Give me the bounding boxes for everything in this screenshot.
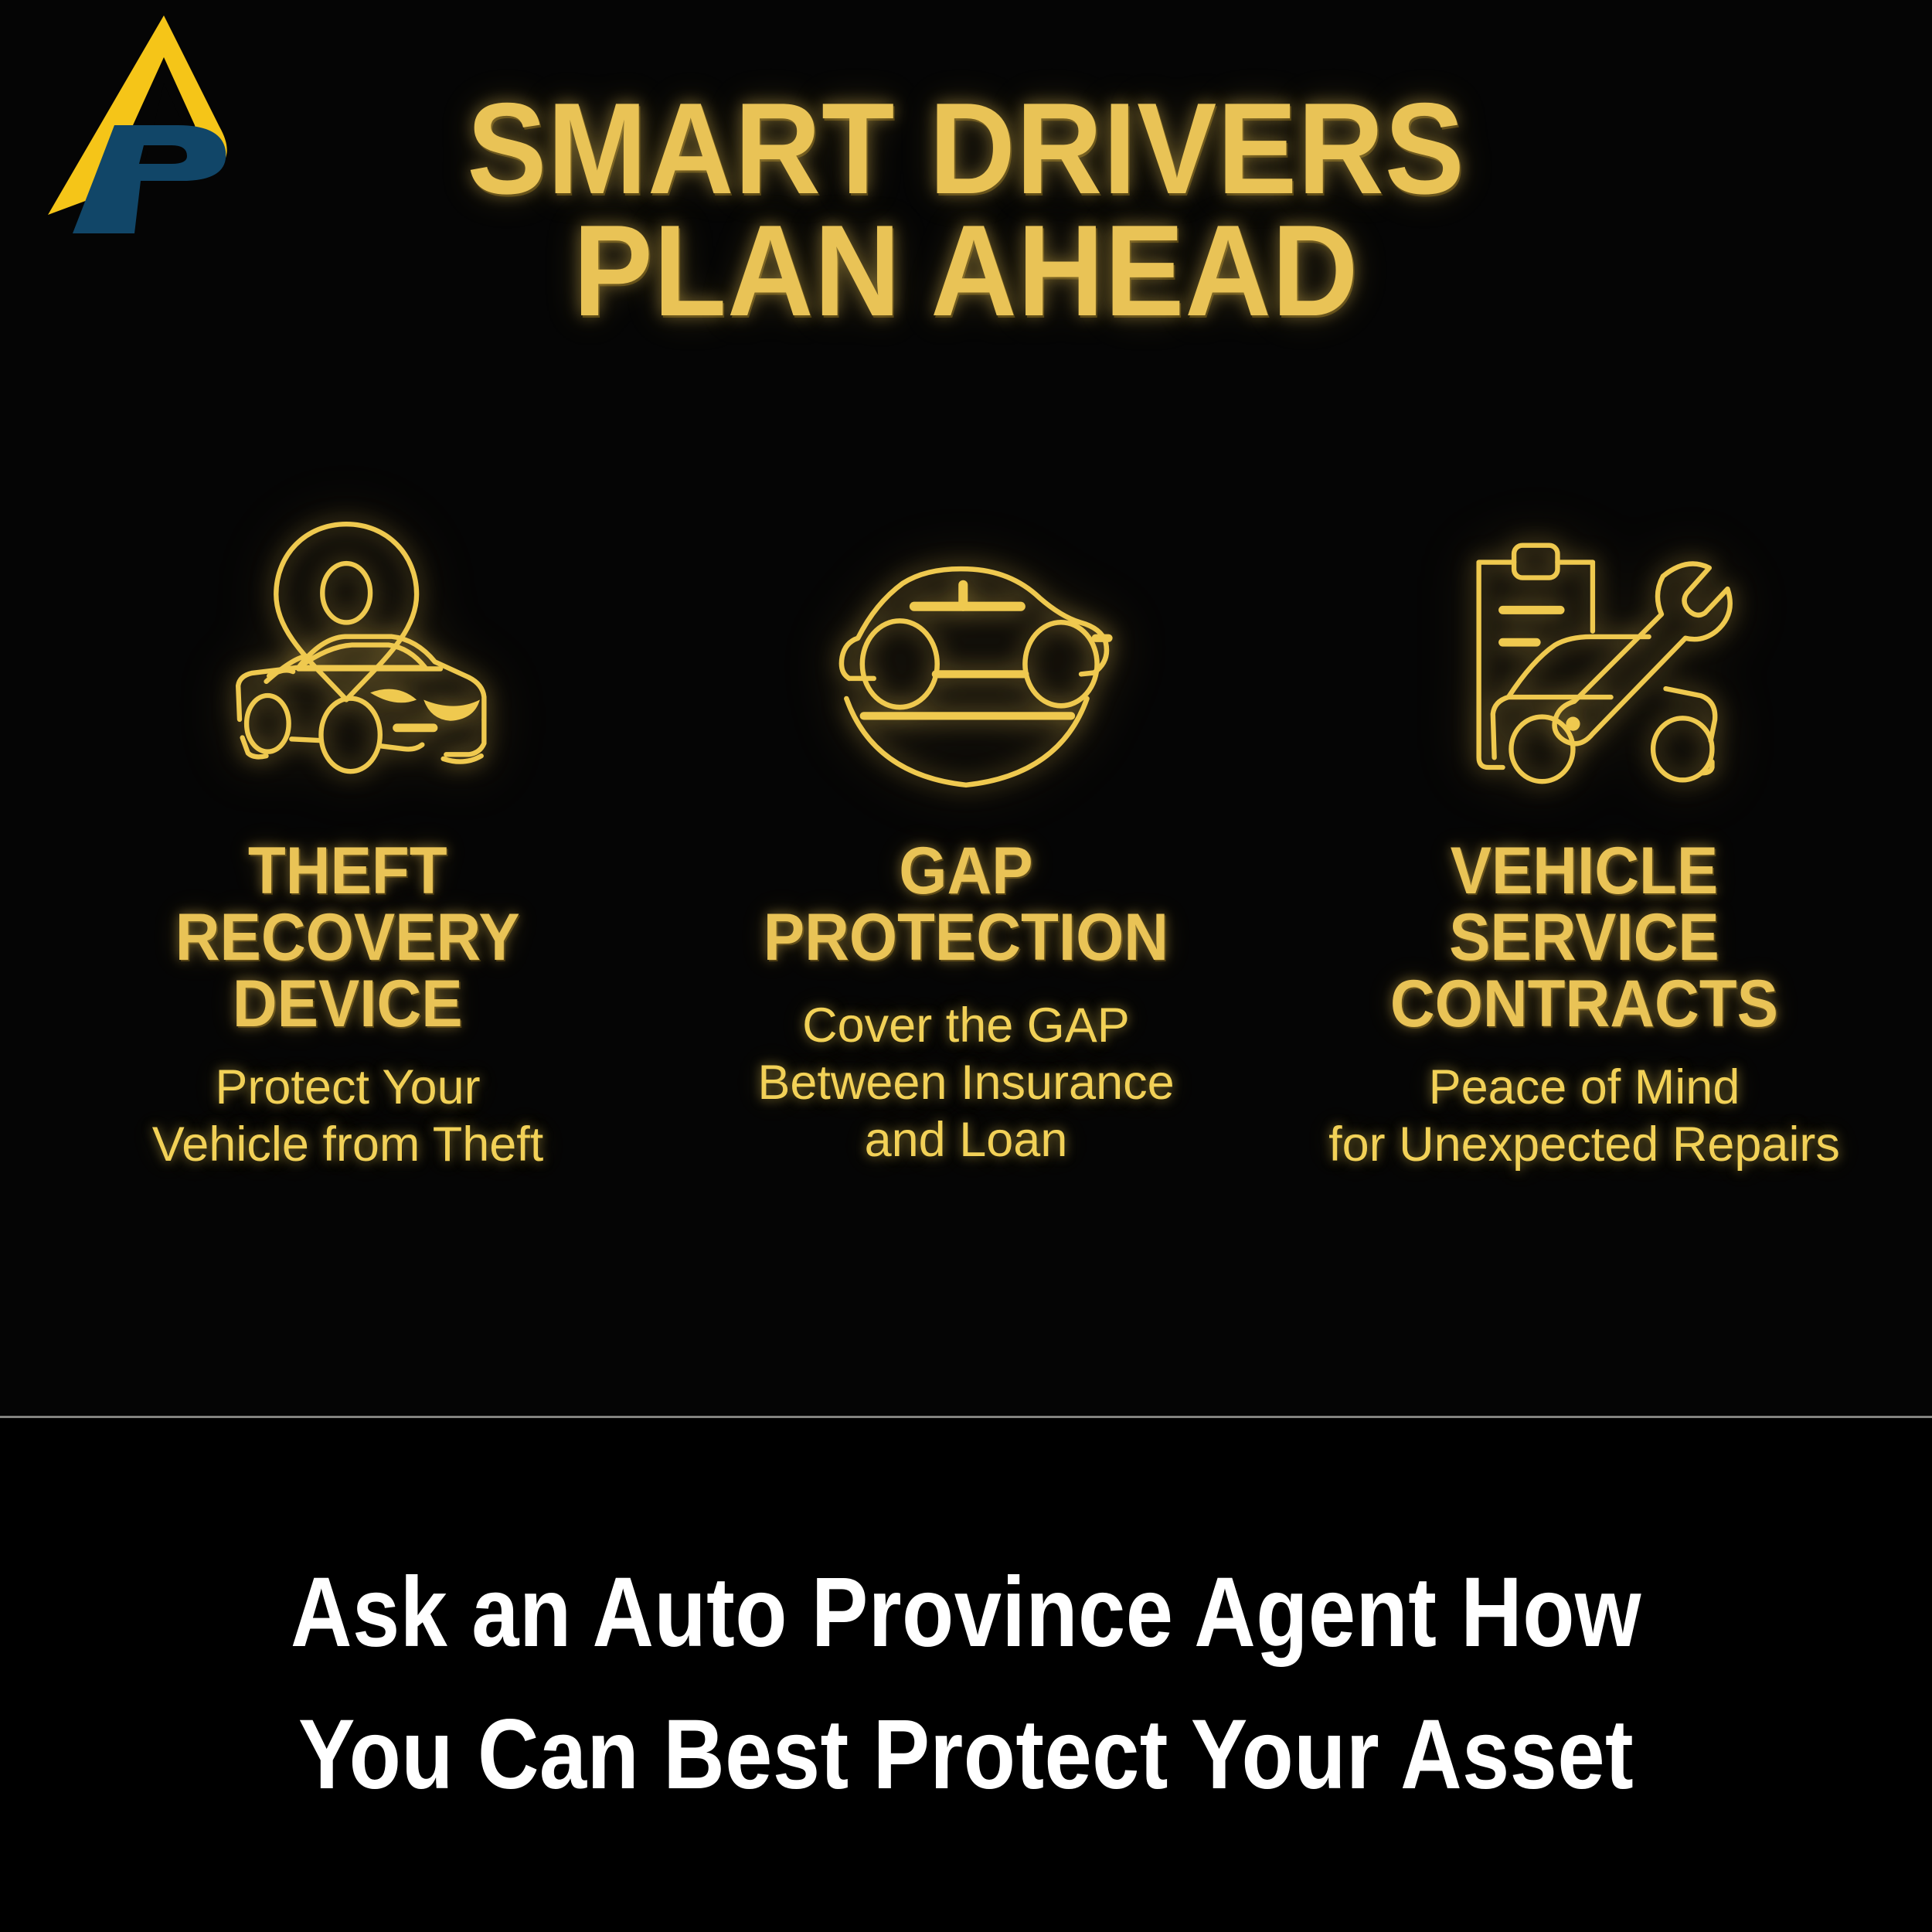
feature-description-gap-protection: Cover the GAP Between Insurance and Loan — [757, 997, 1174, 1168]
headline-line-2: PLAN AHEAD — [312, 213, 1621, 328]
poster-canvas: SMART DRIVERS PLAN AHEAD — [0, 0, 1932, 1932]
car-in-shield-icon — [808, 522, 1124, 811]
cta-panel: Ask an Auto Province Agent How You Can B… — [0, 1418, 1932, 1932]
feature-title-gap-protection: GAP PROTECTION — [764, 838, 1168, 971]
feature-title-theft-recovery-device: THEFT RECOVERY DEVICE — [175, 838, 520, 1037]
top-panel: SMART DRIVERS PLAN AHEAD — [0, 0, 1932, 1416]
page-title: SMART DRIVERS PLAN AHEAD — [255, 91, 1677, 328]
car-with-location-pin-icon — [193, 487, 502, 811]
feature-card-theft-recovery-device[interactable]: THEFT RECOVERY DEVICE Protect Your Vehic… — [39, 487, 657, 1173]
cta-line-2: You Can Best Protect Your Asset — [135, 1707, 1797, 1803]
feature-description-vehicle-service-contracts: Peace of Mind for Unexpected Repairs — [1328, 1059, 1840, 1173]
cta-text-block: Ask an Auto Province Agent How You Can B… — [0, 1565, 1932, 1803]
clipboard-car-wrench-icon — [1430, 507, 1739, 811]
feature-card-vehicle-service-contracts[interactable]: VEHICLE SERVICE CONTRACTS Peace of Mind … — [1275, 487, 1893, 1173]
cta-line-1: Ask an Auto Province Agent How — [135, 1565, 1797, 1661]
headline-line-1: SMART DRIVERS — [312, 91, 1621, 206]
feature-card-gap-protection[interactable]: GAP PROTECTION Cover the GAP Between Ins… — [657, 487, 1275, 1168]
brand-logo[interactable] — [40, 9, 250, 250]
feature-description-theft-recovery-device: Protect Your Vehicle from Theft — [152, 1059, 544, 1173]
feature-columns: THEFT RECOVERY DEVICE Protect Your Vehic… — [0, 487, 1932, 1173]
feature-title-vehicle-service-contracts: VEHICLE SERVICE CONTRACTS — [1390, 838, 1778, 1037]
